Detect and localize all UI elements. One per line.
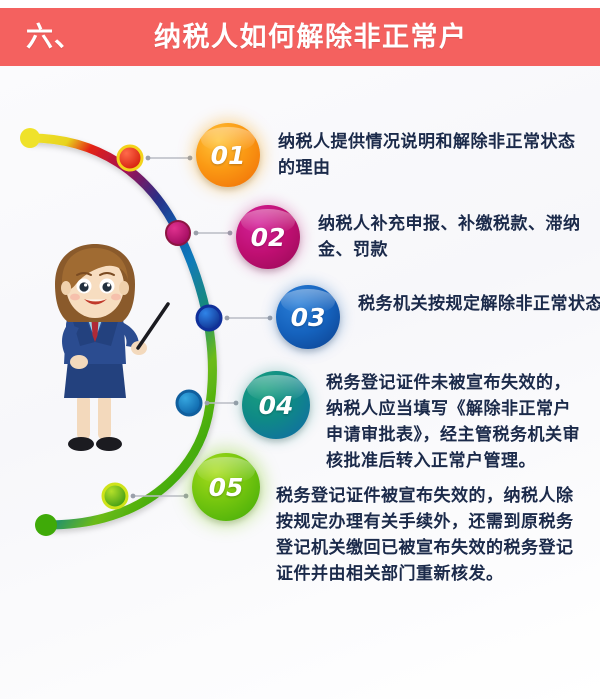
step-text-03: 税务机关按规定解除非正常状态 xyxy=(358,291,600,317)
step-text-01: 纳税人提供情况说明和解除非正常状态的理由 xyxy=(278,129,578,181)
step-item-03[interactable]: 03 税务机关按规定解除非正常状态 xyxy=(276,285,600,349)
step-text-02: 纳税人补充申报、补缴税款、滞纳金、罚款 xyxy=(318,211,583,263)
step-item-01[interactable]: 01 纳税人提供情况说明和解除非正常状态的理由 xyxy=(196,123,578,187)
step-item-02[interactable]: 02 纳税人补充申报、补缴税款、滞纳金、罚款 xyxy=(236,205,583,269)
step-badge-01: 01 xyxy=(196,123,260,187)
step-badge-04: 04 xyxy=(242,371,310,439)
step-badge-05: 05 xyxy=(192,453,260,521)
step-badge-03: 03 xyxy=(276,285,340,349)
page-title: 纳税人如何解除非正常户 xyxy=(154,24,468,51)
content-board: 01 纳税人提供情况说明和解除非正常状态的理由 02 纳税人补充申报、补缴税款、… xyxy=(0,66,600,699)
step-badge-02: 02 xyxy=(236,205,300,269)
infographic-page: 六、 纳税人如何解除非正常户 xyxy=(0,0,600,699)
header-section-index: 六、 xyxy=(26,24,82,51)
header-bar: 六、 纳税人如何解除非正常户 xyxy=(0,8,600,66)
step-list: 01 纳税人提供情况说明和解除非正常状态的理由 02 纳税人补充申报、补缴税款、… xyxy=(0,66,600,699)
step-item-05[interactable]: 05 税务登记证件被宣布失效的，纳税人除按规定办理有关手续外，还需到原税务登记机… xyxy=(192,453,586,587)
step-text-05: 税务登记证件被宣布失效的，纳税人除按规定办理有关手续外，还需到原税务登记机关缴回… xyxy=(276,483,586,587)
